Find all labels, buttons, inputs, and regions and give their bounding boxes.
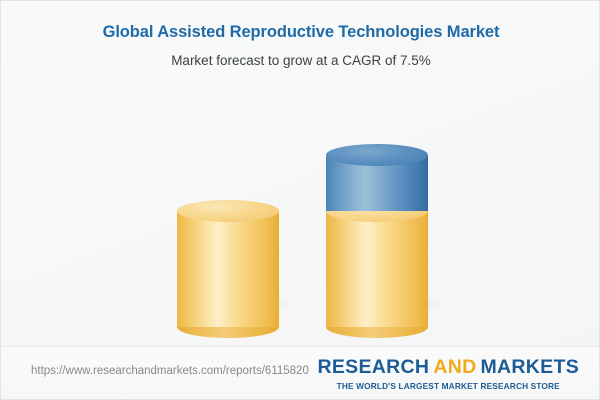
cylinder-top-cap-2025: [177, 200, 279, 222]
bar-segment-growth-2030: [326, 155, 428, 211]
cylinder-body-yellow-2030: [326, 211, 428, 327]
logo-wordmark: RESEARCHANDMARKETS: [317, 358, 579, 378]
cylinder-2030: [326, 144, 428, 327]
logo-tagline: THE WORLD'S LARGEST MARKET RESEARCH STOR…: [317, 382, 579, 390]
chart-plot-area: USD 35.4 Billion 2025 USD 53.8 Billion: [1, 81, 600, 341]
logo-word-research: RESEARCH: [317, 356, 429, 378]
logo-word-markets: MARKETS: [480, 356, 579, 378]
chart-subtitle: Market forecast to grow at a CAGR of 7.5…: [1, 53, 600, 68]
logo-word-and: AND: [433, 356, 476, 378]
infographic-card: Global Assisted Reproductive Technologie…: [0, 0, 600, 400]
cylinder-2025: [177, 200, 279, 327]
bar-segment-base-2025: [177, 211, 279, 327]
cylinder-body-2025: [177, 211, 279, 327]
bar-segment-base-2030: [326, 211, 428, 327]
research-and-markets-logo[interactable]: RESEARCHANDMARKETS THE WORLD'S LARGEST M…: [317, 358, 579, 390]
report-url[interactable]: https://www.researchandmarkets.com/repor…: [31, 365, 309, 377]
cylinder-top-cap-2030: [326, 144, 428, 166]
footer-bar: https://www.researchandmarkets.com/repor…: [1, 346, 600, 399]
page-title: Global Assisted Reproductive Technologie…: [1, 23, 600, 42]
